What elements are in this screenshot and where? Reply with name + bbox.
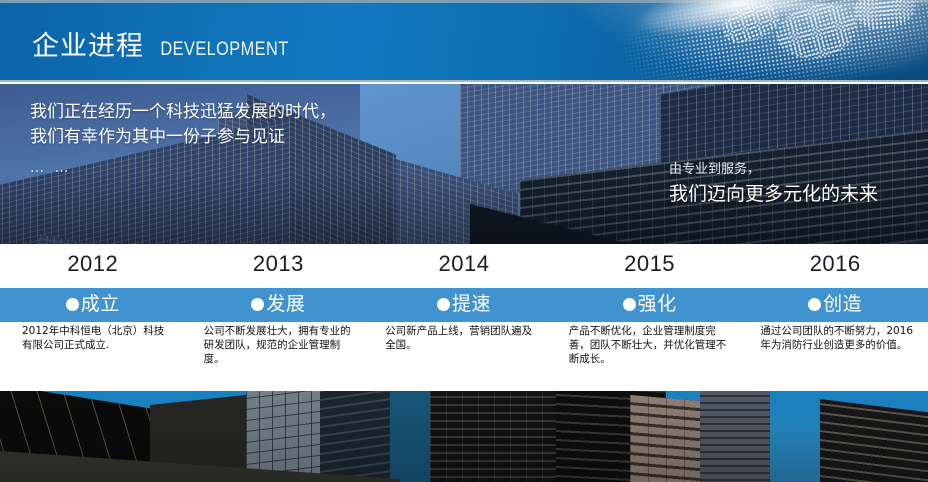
- timeline-description: 公司不断发展壮大，拥有专业的研发团队，规范的企业管理制度。: [204, 324, 360, 366]
- hero-ellipsis: … …: [30, 160, 71, 176]
- timeline-description-cell-2014: 公司新产品上线，营销团队遍及全国。: [371, 322, 557, 391]
- timeline-year: 2015: [557, 251, 743, 277]
- timeline-marker-columns: 成立 发展 提速 强化: [0, 288, 928, 322]
- timeline-year: 2014: [371, 251, 557, 277]
- hero-headline-right-line2: 我们迈向更多元化的未来: [669, 180, 878, 208]
- timeline-column-2012: 2012: [0, 244, 186, 288]
- timeline-description-cell-2016: 通过公司团队的不断努力，2016年为消防行业创造更多的价值。: [742, 322, 928, 391]
- page-header: 企业进程 DEVELOPMENT: [0, 0, 928, 82]
- timeline-marker-cell-2013: 发展: [186, 288, 372, 322]
- world-map-landmass-c: [717, 0, 784, 51]
- timeline-marker-label: 强化: [638, 291, 677, 317]
- timeline-description: 2012年中科恒电（北京）科技有限公司正式成立.: [22, 324, 172, 352]
- timeline-column-2015: 2015: [557, 244, 743, 288]
- header-bottom-rule: [0, 80, 928, 82]
- hero-headline-left: 我们正在经历一个科技迅猛发展的时代， 我们有幸作为其中一份子参与见证: [30, 100, 336, 150]
- page-title-cn: 企业进程: [32, 24, 144, 63]
- timeline-description: 通过公司团队的不断努力，2016年为消防行业创造更多的价值。: [760, 324, 920, 352]
- timeline-marker: 创造: [742, 291, 928, 317]
- timeline-marker-cell-2016: 创造: [742, 288, 928, 322]
- filled-circle-icon: [66, 298, 79, 311]
- page-title-en: DEVELOPMENT: [160, 39, 288, 61]
- timeline-column-2014: 2014: [371, 244, 557, 288]
- timeline-marker-cell-2015: 强化: [557, 288, 743, 322]
- hero-headline-left-line2: 我们有幸作为其中一份子参与见证: [30, 125, 336, 150]
- footer-building-6: [430, 391, 560, 482]
- timeline-marker-cell-2014: 提速: [371, 288, 557, 322]
- filled-circle-icon: [623, 298, 636, 311]
- timeline-year: 2012: [0, 251, 186, 277]
- hero-headline-right-line1: 由专业到服务，: [669, 160, 878, 180]
- footer-building-9: [700, 391, 770, 482]
- world-map-landmass-a: [771, 0, 864, 69]
- timeline-marker: 强化: [557, 291, 743, 317]
- hero-headline-left-line1: 我们正在经历一个科技迅猛发展的时代，: [30, 100, 336, 125]
- world-map-landmass-b: [853, 0, 917, 30]
- timeline-marker-label: 成立: [81, 291, 120, 317]
- timeline-description: 产品不断优化，企业管理制度完善，团队不断壮大，并优化管理不断成长。: [569, 324, 733, 366]
- timeline-marker-cell-2012: 成立: [0, 288, 186, 322]
- timeline-marker-band: 成立 发展 提速 强化: [0, 288, 928, 322]
- dotted-world-map-icon: [601, 0, 928, 82]
- development-timeline-page: 企业进程 DEVELOPMENT 我们正在经历一个科技迅猛发展的时代， 我们有幸…: [0, 0, 928, 482]
- timeline-marker: 成立: [0, 291, 186, 317]
- timeline-description-cell-2012: 2012年中科恒电（北京）科技有限公司正式成立.: [0, 322, 186, 391]
- filled-circle-icon: [808, 298, 821, 311]
- timeline-description-cell-2013: 公司不断发展壮大，拥有专业的研发团队，规范的企业管理制度。: [186, 322, 372, 391]
- timeline-year: 2016: [742, 251, 928, 277]
- timeline-description-band: 2012年中科恒电（北京）科技有限公司正式成立. 公司不断发展壮大，拥有专业的研…: [0, 322, 928, 391]
- timeline-marker-label: 发展: [266, 291, 305, 317]
- timeline-year: 2013: [186, 251, 372, 277]
- timeline-description: 公司新产品上线，营销团队遍及全国。: [385, 324, 541, 352]
- timeline-years-columns: 2012 2013 2014 2015 2016: [0, 244, 928, 288]
- footer-building-4: [320, 391, 390, 482]
- timeline-description-columns: 2012年中科恒电（北京）科技有限公司正式成立. 公司不断发展壮大，拥有专业的研…: [0, 322, 928, 391]
- footer-building-10: [820, 399, 928, 482]
- timeline-marker-label: 创造: [823, 291, 862, 317]
- timeline-marker-label: 提速: [452, 291, 491, 317]
- filled-circle-icon: [251, 298, 264, 311]
- timeline-column-2013: 2013: [186, 244, 372, 288]
- hero-headline-right: 由专业到服务， 我们迈向更多元化的未来: [669, 160, 878, 208]
- timeline-marker: 发展: [186, 291, 372, 317]
- footer-city-skyline-photo: [0, 391, 928, 482]
- hero-banner: 我们正在经历一个科技迅猛发展的时代， 我们有幸作为其中一份子参与见证 … … 由…: [0, 84, 928, 244]
- timeline-description-cell-2015: 产品不断优化，企业管理制度完善，团队不断壮大，并优化管理不断成长。: [557, 322, 743, 391]
- timeline-marker: 提速: [371, 291, 557, 317]
- page-title: 企业进程 DEVELOPMENT: [32, 24, 299, 63]
- timeline-column-2016: 2016: [742, 244, 928, 288]
- filled-circle-icon: [437, 298, 450, 311]
- timeline-years-band: 2012 2013 2014 2015 2016: [0, 244, 928, 288]
